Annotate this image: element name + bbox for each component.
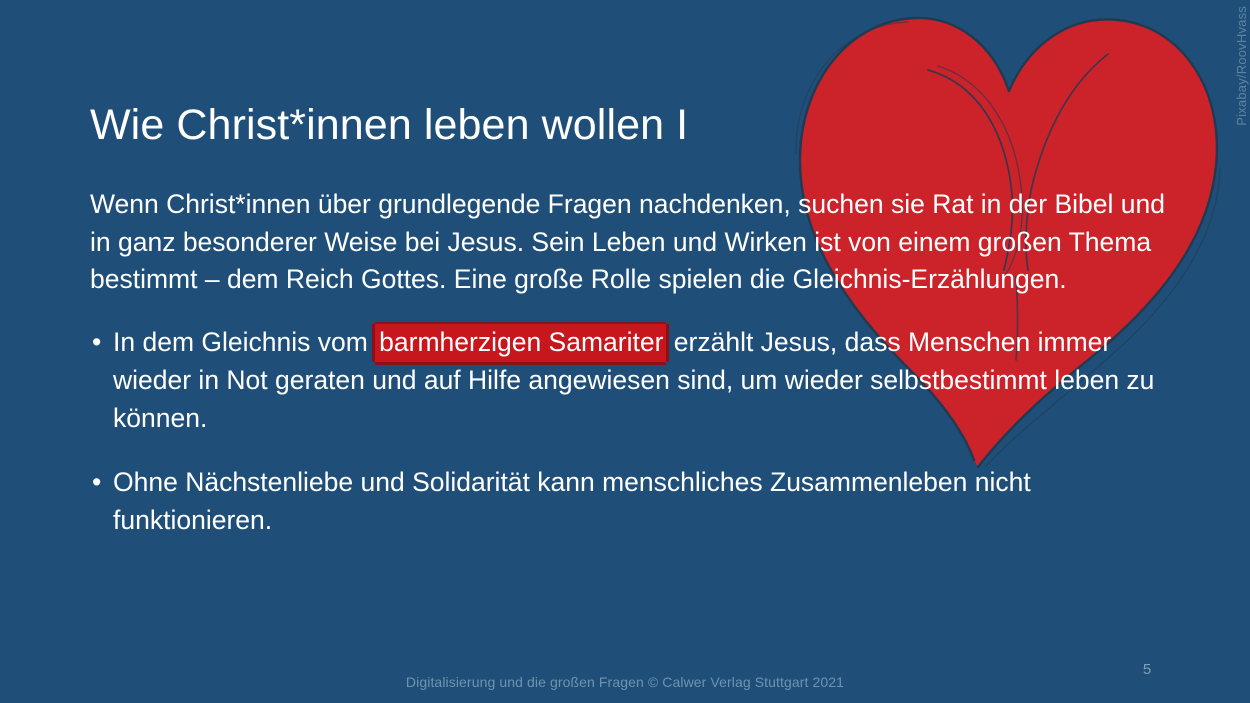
footer-copyright: Digitalisierung und die großen Fragen © … (0, 674, 1250, 690)
bullet-text: Ohne Nächstenliebe und Solidarität kann … (113, 467, 1031, 535)
image-credit: Pixabay/RoovHvass (1234, 6, 1249, 126)
intro-paragraph: Wenn Christ*innen über grundlegende Frag… (90, 186, 1190, 299)
bullet-item-naechstenliebe: •Ohne Nächstenliebe und Solidarität kann… (90, 463, 1190, 539)
bullet-marker: • (92, 463, 101, 501)
slide-body: Wenn Christ*innen über grundlegende Frag… (90, 186, 1190, 539)
slide-title: Wie Christ*innen leben wollen I (90, 101, 850, 149)
page-number: 5 (1132, 661, 1162, 678)
bullet-list: •In dem Gleichnis vom barmherzigen Samar… (90, 323, 1190, 539)
bullet-item-samariter: •In dem Gleichnis vom barmherzigen Samar… (90, 323, 1190, 437)
slide-canvas: Wie Christ*innen leben wollen I Wenn Chr… (0, 0, 1250, 703)
highlighted-term: barmherzigen Samariter (375, 324, 666, 362)
bullet-text-before: In dem Gleichnis vom (113, 327, 375, 357)
bullet-marker: • (92, 323, 101, 361)
